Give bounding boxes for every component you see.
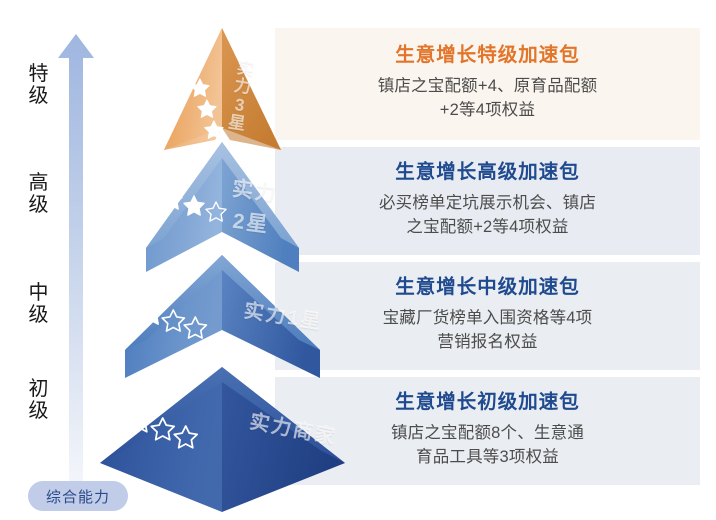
pyramid-tier-mid — [125, 255, 320, 378]
benefit-description: 镇店之宝配额+4、原育品配额+2等4项权益 — [378, 75, 598, 123]
pyramid-tier-top — [164, 28, 281, 150]
infographic-canvas: 生意增长特级加速包 镇店之宝配额+4、原育品配额+2等4项权益 生意增长高级加速… — [0, 0, 716, 520]
benefit-description: 宝藏厂货榜单入围资格等4项营销报名权益 — [383, 307, 593, 355]
pyramid-tier-base — [100, 367, 345, 512]
axis-level-label: 高级 — [18, 172, 60, 217]
pyramid-graphic — [80, 20, 370, 520]
axis-level-label: 中级 — [18, 282, 60, 327]
pyramid-tier-high — [146, 142, 299, 272]
axis-level-label: 特级 — [18, 63, 60, 108]
benefit-title: 生意增长特级加速包 — [395, 43, 580, 67]
axis-level-label: 初级 — [18, 378, 60, 423]
benefit-title: 生意增长高级加速包 — [395, 160, 580, 184]
benefit-description: 必买榜单定坑展示机会、镇店之宝配额+2等4项权益 — [379, 192, 596, 240]
benefit-description: 镇店之宝配额8个、生意通育品工具等3项权益 — [391, 422, 584, 470]
benefit-title: 生意增长初级加速包 — [395, 390, 580, 414]
benefit-title: 生意增长中级加速包 — [395, 275, 580, 299]
